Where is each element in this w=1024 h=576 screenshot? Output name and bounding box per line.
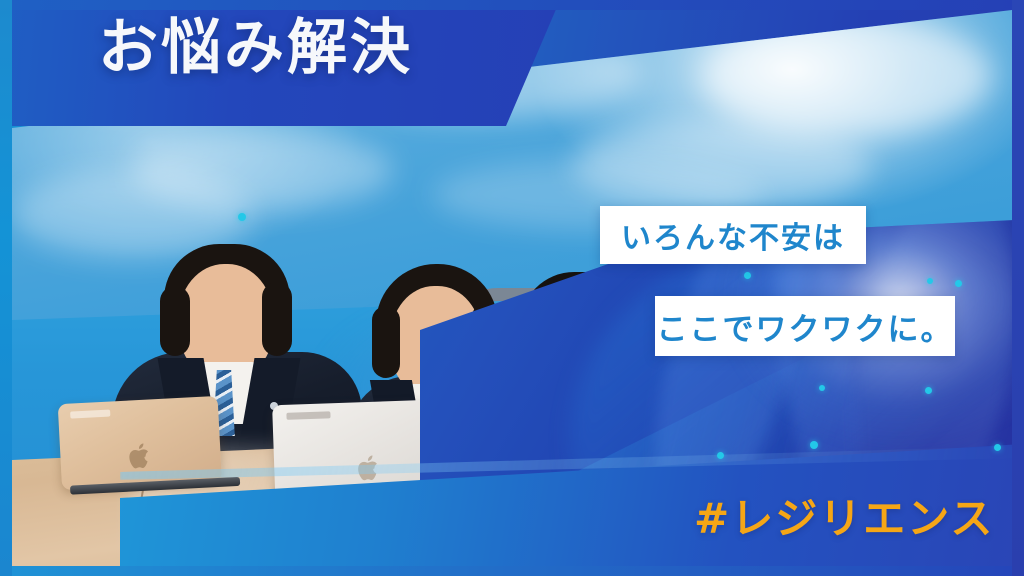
laptop-silver-label [286, 411, 330, 420]
frame-top-border [0, 0, 1024, 10]
student-left-hair-side [262, 282, 292, 356]
laptop-gold-label [70, 410, 110, 419]
accent-dot [744, 272, 751, 279]
banner-canvas: お悩み解決 いろんな不安は ここでワクワクに。 #レジリエンス [0, 0, 1024, 576]
accent-dot [994, 444, 1001, 451]
accent-dot [819, 385, 825, 391]
accent-dot [955, 280, 962, 287]
callout-box-primary: いろんな不安は [600, 206, 866, 264]
frame-left-border [0, 0, 12, 576]
accent-dot [717, 452, 724, 459]
frame-right-border [1012, 0, 1024, 576]
page-title: お悩み解決 [98, 18, 413, 78]
accent-dot [810, 441, 818, 449]
callout-box-secondary: ここでワクワクに。 [655, 296, 955, 356]
accent-dot [927, 278, 933, 284]
laptop-gold [58, 396, 223, 496]
frame-bottom-border [0, 566, 1024, 576]
hashtag-label: #レジリエンス [694, 498, 994, 540]
apple-logo-icon [127, 441, 155, 472]
callout-text-primary: いろんな不安は [621, 213, 845, 257]
accent-dot [925, 387, 932, 394]
cloud-shape [702, 16, 992, 136]
student-left-hair-side [160, 286, 190, 356]
callout-text-secondary: ここでワクワクに。 [657, 304, 954, 349]
student-middle-hair-side [372, 306, 400, 378]
accent-dot [238, 213, 246, 221]
